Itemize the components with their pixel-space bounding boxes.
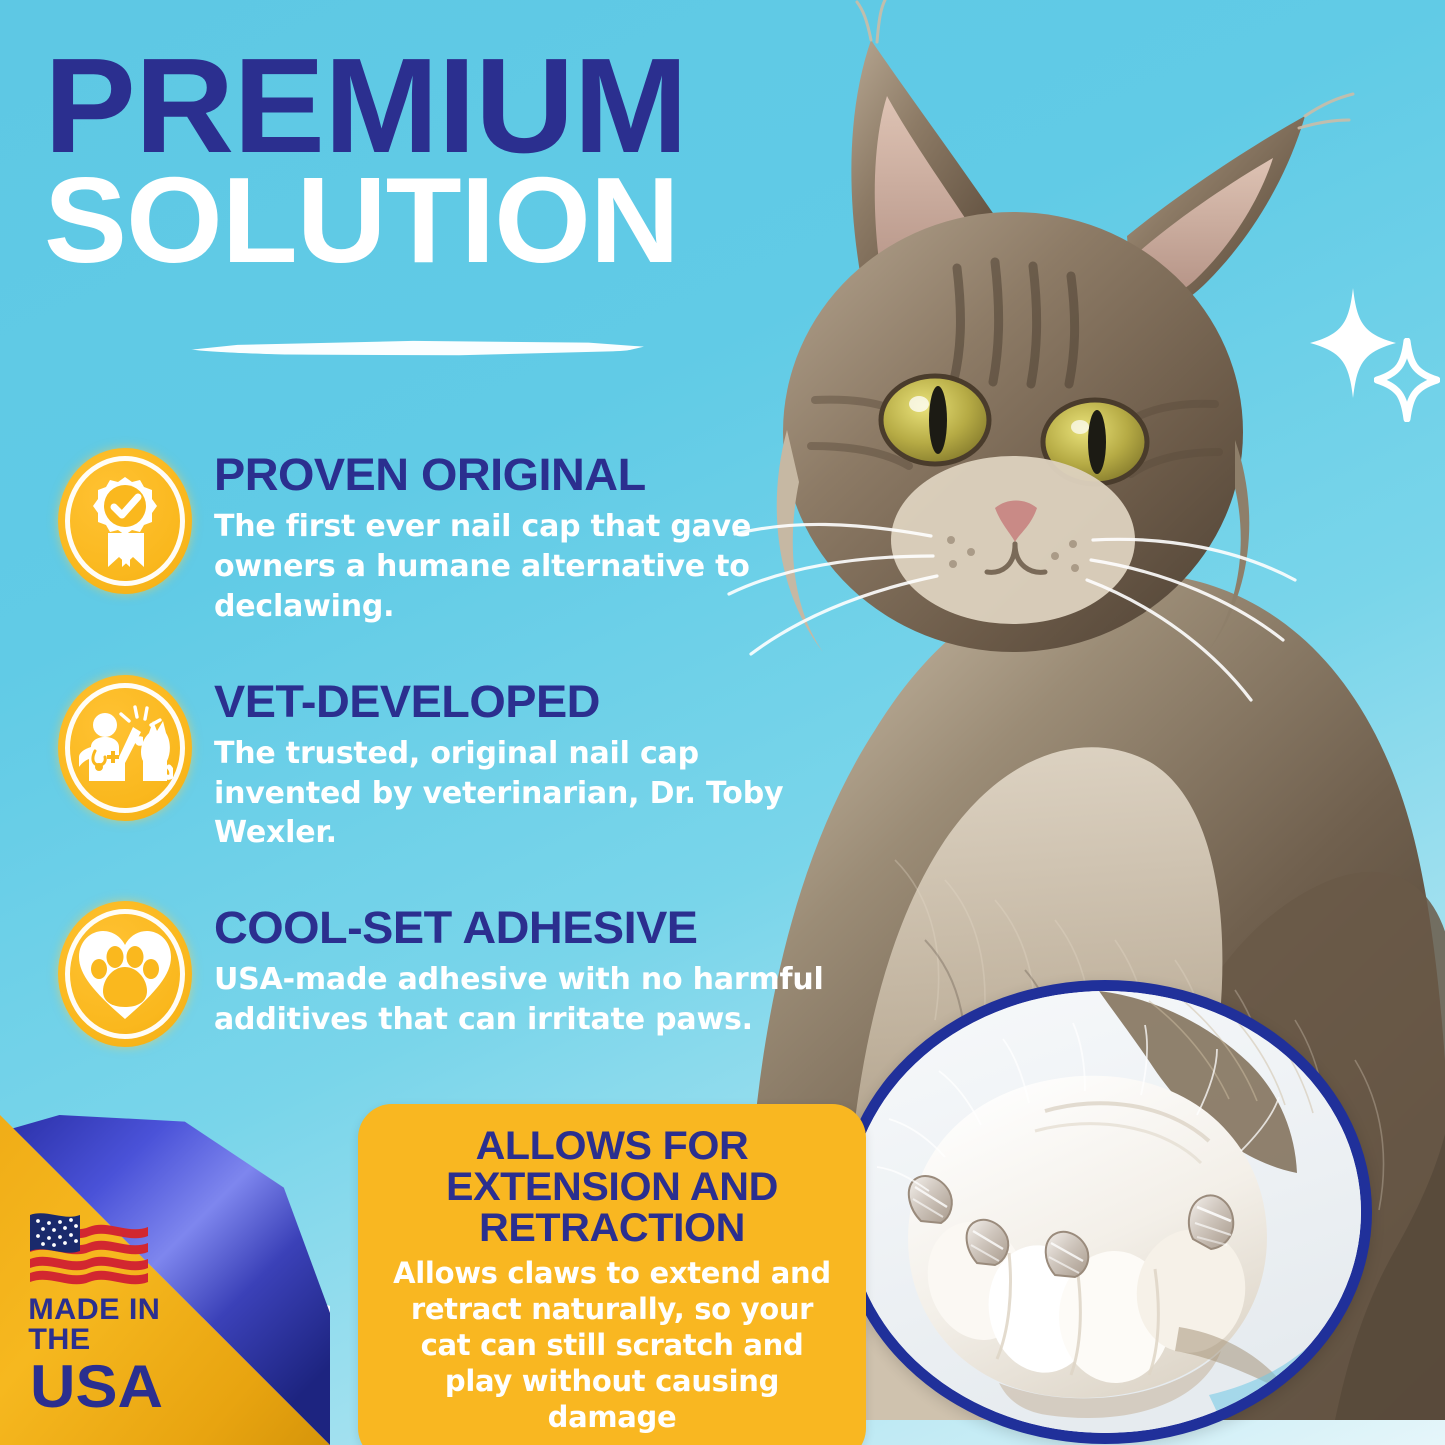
callout-body: Allows claws to extend and retract natur… (384, 1256, 840, 1436)
vet-high-five-cat-icon (58, 675, 192, 821)
feature-item-cool-set-adhesive: COOL-SET ADHESIVE USA-made adhesive with… (58, 901, 838, 1047)
feature-text-block: PROVEN ORIGINAL The first ever nail cap … (214, 448, 838, 627)
feature-item-proven-original: PROVEN ORIGINAL The first ever nail cap … (58, 448, 838, 627)
feature-body: The trusted, original nail cap invented … (214, 734, 838, 854)
feature-item-vet-developed: VET-DEVELOPED The trusted, original nail… (58, 675, 838, 854)
feature-body: The first ever nail cap that gave owners… (214, 507, 838, 627)
feature-text-block: COOL-SET ADHESIVE USA-made adhesive with… (214, 901, 838, 1040)
made-in-usa-line2: USA (30, 1357, 219, 1417)
feature-title: COOL-SET ADHESIVE (214, 905, 863, 950)
cat-paw-with-nail-caps-closeup (838, 980, 1372, 1444)
headline-line-solution: SOLUTION (44, 168, 860, 273)
made-in-usa-badge: MADE IN THE USA (30, 1211, 210, 1417)
usa-flag-icon (30, 1211, 148, 1285)
feature-list: PROVEN ORIGINAL The first ever nail cap … (58, 448, 838, 1095)
page-peel-corner: MADE IN THE USA (0, 1115, 330, 1445)
made-in-usa-line1: MADE IN THE (28, 1295, 212, 1355)
sparkle-outline-icon (1374, 338, 1440, 422)
product-feature-poster: PREMIUM SOLUTION PROVEN ORIGIN (0, 0, 1445, 1445)
feature-body: USA-made adhesive with no harmful additi… (214, 960, 838, 1040)
headline-line-premium: PREMIUM (44, 48, 860, 164)
feature-text-block: VET-DEVELOPED The trusted, original nail… (214, 675, 838, 854)
feature-title: VET-DEVELOPED (214, 679, 863, 724)
callout-title: ALLOWS FOR EXTENSION AND RETRACTION (377, 1126, 847, 1248)
underline-swoosh (182, 338, 644, 356)
headline-block: PREMIUM SOLUTION (44, 48, 844, 273)
feature-title: PROVEN ORIGINAL (214, 452, 863, 497)
award-ribbon-check-icon (58, 448, 192, 594)
extension-retraction-callout: ALLOWS FOR EXTENSION AND RETRACTION Allo… (358, 1104, 866, 1445)
heart-paw-icon (58, 901, 192, 1047)
